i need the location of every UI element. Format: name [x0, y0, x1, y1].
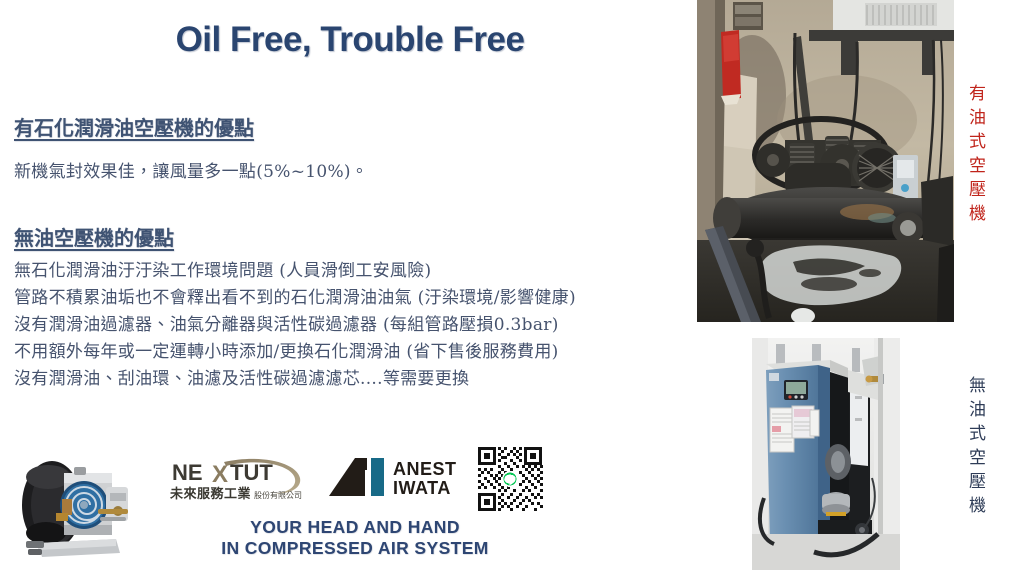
nextut-logo: NE X TUT 未來服務工業 股份有限公司	[168, 452, 316, 502]
photo-oiled-compressor-graphic	[697, 0, 954, 322]
slide-canvas: Oil Free, Trouble Free 有石化潤滑油空壓機的優點 新機氣封…	[0, 0, 1024, 578]
line-qr-code-graphic	[474, 443, 546, 515]
nextut-wordmark-ne: NE	[172, 460, 203, 485]
anest-wordmark-line1: ANEST	[393, 459, 457, 479]
caption-oilfree-compressor: 無油式空壓機	[966, 376, 983, 520]
section-heading-oiled: 有石化潤滑油空壓機的優點	[14, 112, 254, 141]
photo-oilfree-compressor	[752, 338, 900, 570]
tagline-line-1: YOUR HEAD AND HAND	[165, 517, 545, 538]
page-title: Oil Free, Trouble Free	[70, 20, 630, 60]
caption-oiled-compressor: 有油式空壓機	[966, 84, 983, 228]
list-item: 管路不積累油垢也不會釋出看不到的石化潤滑油油氣 (汙染環境/影響健康)	[14, 285, 576, 312]
nextut-chinese-name: 未來服務工業	[169, 486, 251, 502]
company-tagline: YOUR HEAD AND HAND IN COMPRESSED AIR SYS…	[165, 517, 545, 559]
nextut-wordmark-tut: TUT	[230, 460, 273, 485]
nextut-logo-graphic: NE X TUT 未來服務工業 股份有限公司	[168, 452, 316, 502]
list-item: 無石化潤滑油汙汙染工作環境問題 (人員滑倒工安風險)	[14, 258, 576, 285]
line-qr-code[interactable]	[474, 443, 546, 515]
list-item: 沒有潤滑油過濾器、油氣分離器與活性碳過濾器 (每組管路壓損0.3bar)	[14, 312, 576, 339]
anest-iwata-logo-graphic: ANEST IWATA	[327, 454, 467, 500]
nextut-chinese-suffix: 股份有限公司	[254, 490, 302, 500]
list-item: 沒有潤滑油、刮油環、油濾及活性碳過濾濾芯....等需要更換	[14, 366, 576, 393]
list-item: 不用額外每年或一定運轉小時添加/更換石化潤滑油 (省下售後服務費用)	[14, 339, 576, 366]
section-oilfree-list: 無石化潤滑油汙汙染工作環境問題 (人員滑倒工安風險) 管路不積累油垢也不會釋出看…	[14, 258, 576, 393]
photo-oilfree-compressor-graphic	[752, 338, 900, 570]
photo-oiled-compressor	[697, 0, 954, 322]
anest-iwata-logo: ANEST IWATA	[327, 454, 467, 500]
tagline-line-2: IN COMPRESSED AIR SYSTEM	[165, 538, 545, 559]
product-cutaway-graphic	[12, 447, 134, 565]
anest-wordmark-line2: IWATA	[393, 478, 451, 498]
section-oiled-line-1: 新機氣封效果佳，讓風量多一點(5%~10%)。	[14, 157, 368, 182]
product-cutaway-photo	[12, 447, 134, 565]
nextut-wordmark-x: X	[212, 461, 228, 488]
section-heading-oilfree: 無油空壓機的優點	[14, 222, 174, 251]
